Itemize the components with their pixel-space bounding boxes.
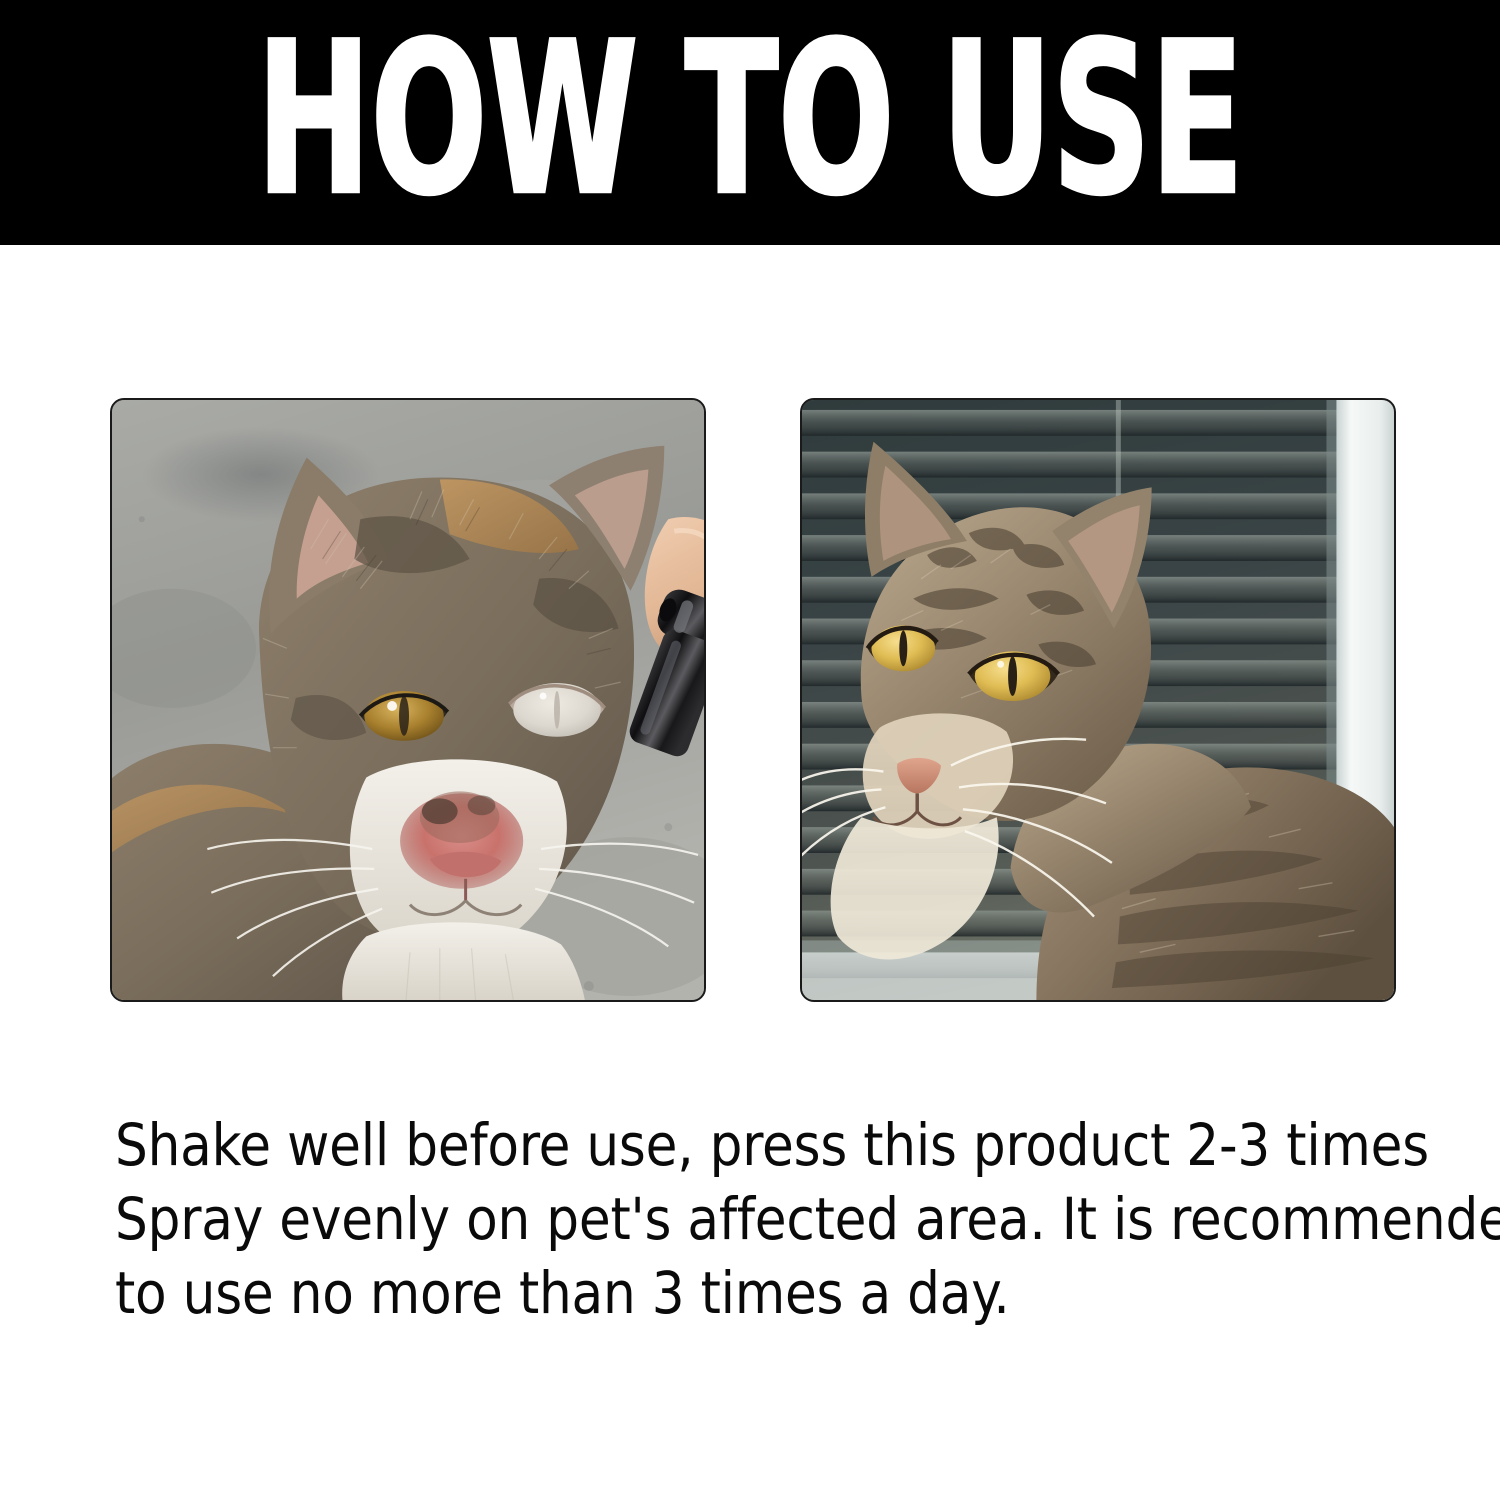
before-photo-image bbox=[112, 400, 704, 1000]
instruction-line-3: to use no more than 3 times a day. bbox=[115, 1256, 1422, 1330]
photo-gallery bbox=[110, 398, 1396, 1002]
header-banner: HOW TO USE bbox=[0, 0, 1500, 245]
instructions-text: Shake well before use, press this produc… bbox=[115, 1108, 1435, 1330]
after-photo-image bbox=[802, 400, 1394, 1000]
instruction-line-2: Spray evenly on pet's affected area. It … bbox=[115, 1182, 1422, 1256]
before-photo bbox=[110, 398, 706, 1002]
after-photo bbox=[800, 398, 1396, 1002]
page-title: HOW TO USE bbox=[256, 39, 1243, 203]
instruction-line-1: Shake well before use, press this produc… bbox=[115, 1108, 1422, 1182]
